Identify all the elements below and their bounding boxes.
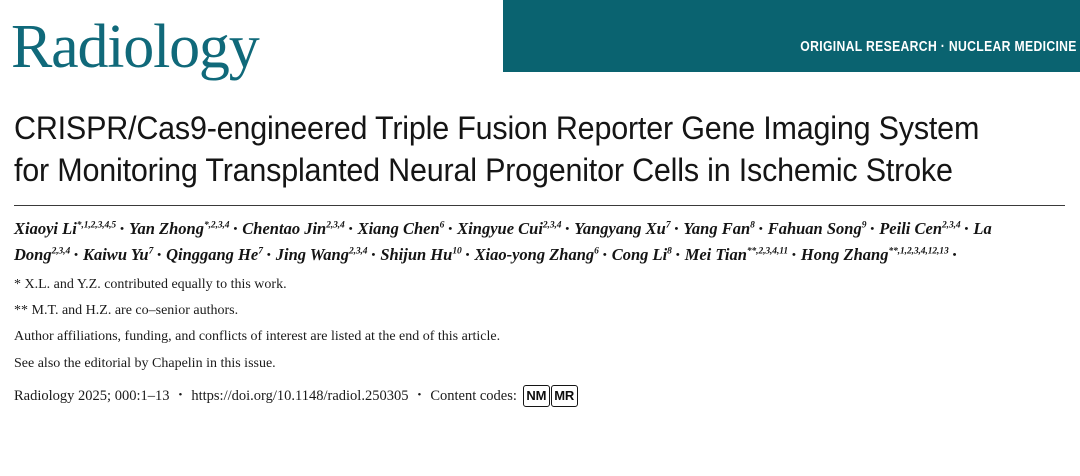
note-affiliations: Author affiliations, funding, and confli… [14, 330, 1066, 344]
author-separator-icon: • [70, 249, 83, 261]
author-entry: Mei Tian**,2,3,4,11 [685, 245, 788, 264]
author-entry: Peili Cen2,3,4 [879, 219, 960, 238]
author-entry: Jing Wang2,3,4 [276, 245, 368, 264]
author-affiliation-superscript: 7 [666, 220, 671, 230]
author-separator-icon: • [599, 249, 612, 261]
author-name: Fahuan Song [768, 219, 862, 238]
author-entry: Yang Fan8 [683, 219, 754, 238]
author-entry: Qinggang He7 [166, 245, 263, 264]
author-affiliation-superscript: 2,3,4 [349, 247, 368, 257]
author-separator-icon: • [561, 223, 574, 235]
author-separator-icon: • [672, 249, 685, 261]
author-separator-icon: • [116, 223, 129, 235]
author-name: Qinggang He [166, 245, 258, 264]
author-entry: Xiaoyi Li*,1,2,3,4,5 [14, 219, 116, 238]
author-entry: Xiang Chen6 [358, 219, 445, 238]
author-name: Yangyang Xu [574, 219, 666, 238]
author-separator-icon: • [229, 223, 242, 235]
content-codes-group: NMMR [523, 385, 578, 407]
author-entry: Cong Li8 [612, 245, 672, 264]
author-name: Xiaoyi Li [14, 219, 77, 238]
author-name: Yan Zhong [129, 219, 204, 238]
author-entry: Yan Zhong*,2,3,4 [129, 219, 230, 238]
author-separator-icon: • [866, 223, 879, 235]
author-name: Chentao Jin [242, 219, 326, 238]
author-separator-icon: • [263, 249, 276, 261]
author-affiliation-superscript: 2,3,4 [942, 220, 961, 230]
content-codes-label: Content codes: [430, 388, 517, 405]
author-entry: Xiao-yong Zhang6 [475, 245, 599, 264]
article-category-label: ORIGINAL RESEARCH · NUCLEAR MEDICINE [800, 39, 1080, 55]
author-entry: Xingyue Cui2,3,4 [457, 219, 561, 238]
citation-reference: Radiology 2025; 000:1–13 [14, 388, 169, 405]
author-name: Hong Zhang [801, 245, 889, 264]
author-affiliation-superscript: **,2,3,4,11 [747, 247, 788, 257]
author-entry: Shijun Hu10 [380, 245, 461, 264]
article-category-banner: ORIGINAL RESEARCH · NUCLEAR MEDICINE [503, 0, 1080, 72]
author-name: Xingyue Cui [457, 219, 543, 238]
author-entry: Fahuan Song9 [768, 219, 867, 238]
author-affiliation-superscript: **,1,2,3,4,12,13 [888, 247, 948, 257]
citation-separator-icon: • [169, 389, 191, 401]
author-list: Xiaoyi Li*,1,2,3,4,5•Yan Zhong*,2,3,4•Ch… [0, 206, 1078, 268]
journal-header: Radiology ORIGINAL RESEARCH · NUCLEAR ME… [0, 0, 1080, 90]
author-separator-icon: • [367, 249, 380, 261]
article-title: CRISPR/Cas9-engineered Triple Fusion Rep… [0, 90, 1024, 192]
author-name: Cong Li [612, 245, 667, 264]
author-entry: Hong Zhang**,1,2,3,4,12,13 [801, 245, 949, 264]
author-affiliation-superscript: *,2,3,4 [204, 220, 229, 230]
author-name: Xiang Chen [358, 219, 440, 238]
author-affiliation-superscript: 10 [452, 247, 461, 257]
radiology-logo: Radiology [11, 16, 259, 78]
author-name: Peili Cen [879, 219, 942, 238]
author-name: Xiao-yong Zhang [475, 245, 595, 264]
author-entry: Yangyang Xu7 [574, 219, 670, 238]
note-co-senior-authors: ** M.T. and H.Z. are co–senior authors. [14, 304, 1066, 318]
author-separator-icon: • [153, 249, 166, 261]
author-name: Shijun Hu [380, 245, 452, 264]
author-affiliation-superscript: 2,3,4 [52, 247, 71, 257]
author-affiliation-superscript: *,1,2,3,4,5 [77, 220, 116, 230]
author-separator-icon: • [949, 249, 962, 261]
author-name: Yang Fan [683, 219, 750, 238]
author-separator-icon: • [345, 223, 358, 235]
author-separator-icon: • [788, 249, 801, 261]
author-affiliation-superscript: 2,3,4 [543, 220, 562, 230]
author-entry: Kaiwu Yu7 [83, 245, 153, 264]
note-editorial: See also the editorial by Chapelin in th… [14, 357, 1066, 371]
author-entry: Chentao Jin2,3,4 [242, 219, 344, 238]
content-code-badge-nm[interactable]: NM [523, 385, 550, 407]
note-equal-contribution: * X.L. and Y.Z. contributed equally to t… [14, 278, 1066, 292]
article-notes: * X.L. and Y.Z. contributed equally to t… [0, 268, 1080, 371]
author-separator-icon: • [961, 223, 974, 235]
citation-separator-icon-2: • [408, 389, 430, 401]
citation-doi-link[interactable]: https://doi.org/10.1148/radiol.250305 [191, 388, 408, 405]
content-code-badge-mr[interactable]: MR [551, 385, 578, 407]
citation-line: Radiology 2025; 000:1–13 • https://doi.o… [0, 383, 1080, 407]
author-name: Jing Wang [276, 245, 349, 264]
author-name: Kaiwu Yu [83, 245, 149, 264]
author-separator-icon: • [462, 249, 475, 261]
author-separator-icon: • [671, 223, 684, 235]
author-separator-icon: • [444, 223, 457, 235]
author-separator-icon: • [755, 223, 768, 235]
author-name: Mei Tian [685, 245, 747, 264]
author-affiliation-superscript: 2,3,4 [326, 220, 345, 230]
